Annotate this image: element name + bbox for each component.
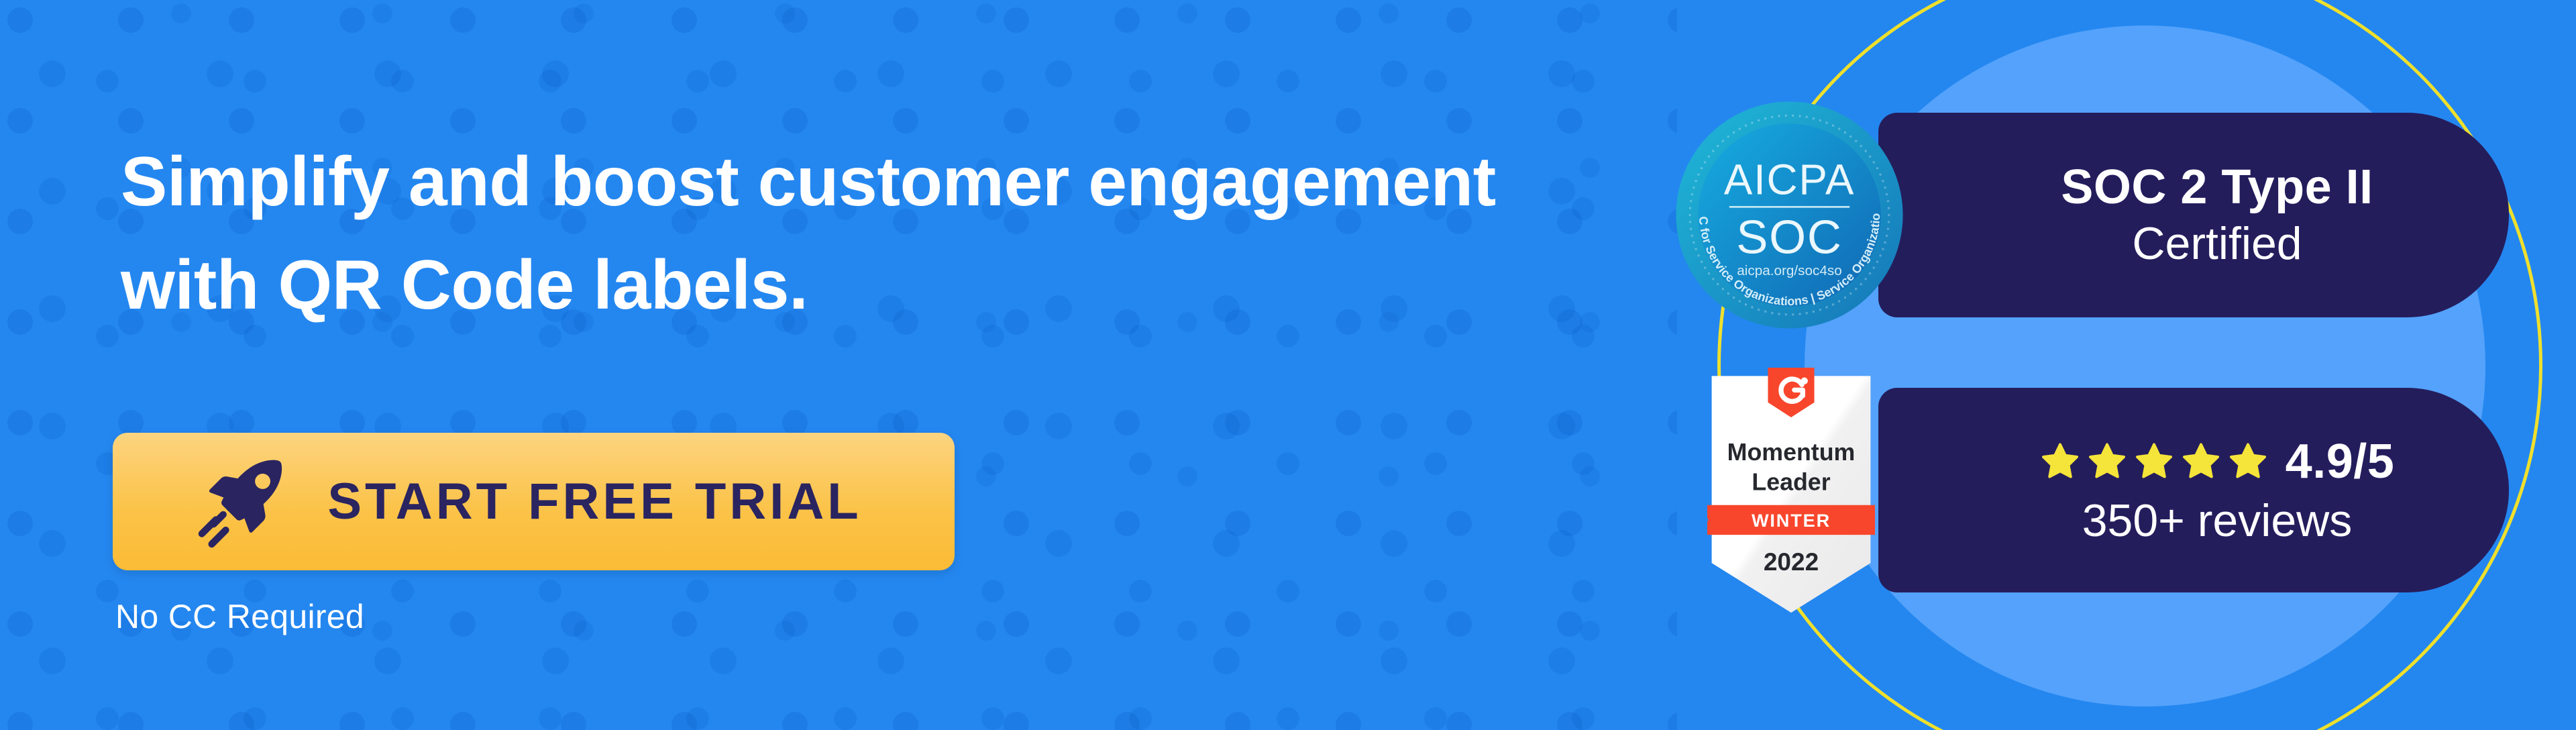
soc2-title: SOC 2 Type II xyxy=(2061,160,2373,215)
star-icon xyxy=(2040,441,2080,482)
rating-row: 4.9/5 xyxy=(2040,434,2395,489)
star-icon xyxy=(2087,441,2127,482)
promo-banner: Simplify and boost customer engagement w… xyxy=(0,0,2576,730)
reviews-count: 350+ reviews xyxy=(2082,494,2353,547)
star-icon xyxy=(2134,441,2174,482)
svg-text:AICPA: AICPA xyxy=(1724,155,1855,203)
svg-text:2022: 2022 xyxy=(1764,548,1819,576)
rating-badge: 4.9/5 350+ reviews xyxy=(1878,388,2509,592)
no-credit-card-note: No CC Required xyxy=(115,597,364,636)
star-icon xyxy=(2181,441,2221,482)
svg-text:Leader: Leader xyxy=(1752,469,1830,496)
aicpa-soc-seal-icon: AICPA SOC aicpa.org/soc4so SOC for Servi… xyxy=(1674,99,1905,331)
soc2-certification-badge: SOC 2 Type II Certified xyxy=(1878,113,2509,317)
star-rating xyxy=(2040,441,2268,482)
soc2-subtitle: Certified xyxy=(2132,217,2302,270)
svg-text:WINTER: WINTER xyxy=(1752,510,1831,531)
start-free-trial-button[interactable]: START FREE TRIAL xyxy=(113,433,955,570)
g2-momentum-leader-badge: Momentum Leader WINTER 2022 xyxy=(1707,368,1875,616)
svg-text:aicpa.org/soc4so: aicpa.org/soc4so xyxy=(1737,263,1841,278)
page-title: Simplify and boost customer engagement w… xyxy=(121,131,1610,337)
headline-line-2: with QR Code labels. xyxy=(121,234,1610,337)
star-icon xyxy=(2228,441,2268,482)
rating-score: 4.9/5 xyxy=(2286,434,2395,489)
cta-label: START FREE TRIAL xyxy=(327,472,861,531)
headline-line-1: Simplify and boost customer engagement xyxy=(121,143,1496,221)
svg-text:SOC: SOC xyxy=(1736,210,1842,263)
svg-text:Momentum: Momentum xyxy=(1727,439,1856,466)
rocket-icon xyxy=(192,452,292,552)
